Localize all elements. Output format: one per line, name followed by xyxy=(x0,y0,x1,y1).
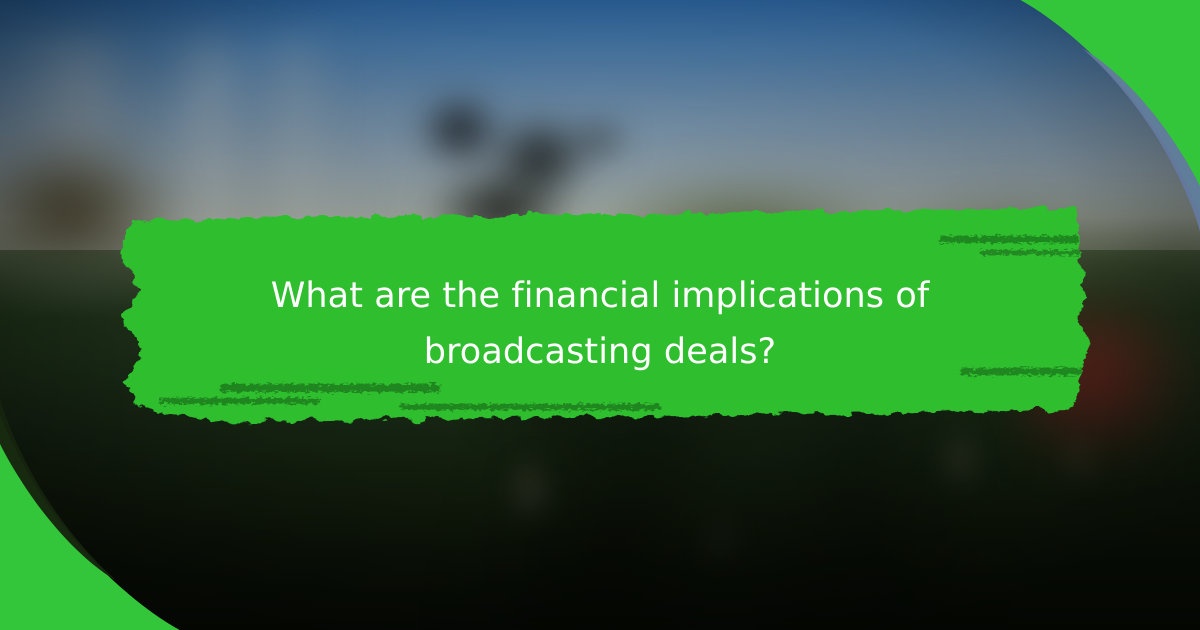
brush-streak xyxy=(400,404,660,410)
brush-streak xyxy=(980,250,1090,255)
brush-streak xyxy=(220,384,440,392)
brush-streak xyxy=(160,398,320,404)
share-card: What are the financial implications of b… xyxy=(0,0,1200,630)
brush-streak xyxy=(940,236,1090,243)
headline-text: What are the financial implications of b… xyxy=(180,268,1020,380)
